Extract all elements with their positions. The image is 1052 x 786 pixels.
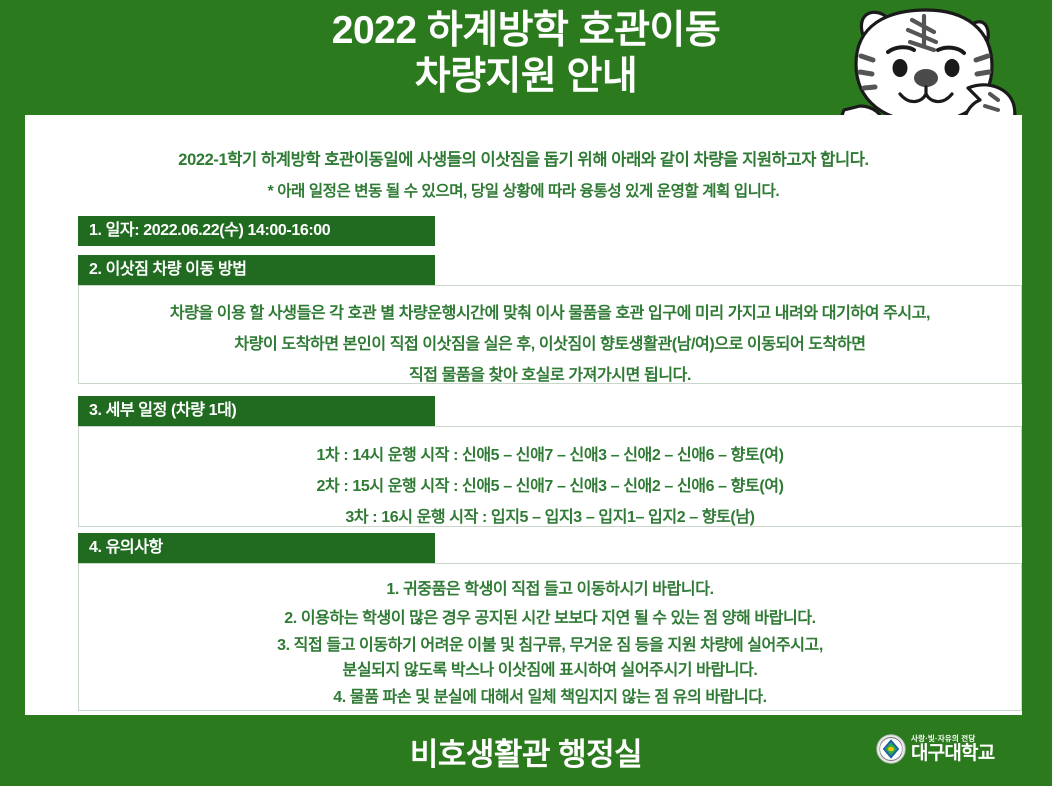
schedule-row-1: 1차 : 14시 운행 시작 : 신애5 – 신애7 – 신애3 – 신애2 –… — [79, 440, 1021, 471]
daegu-university-emblem-icon — [876, 734, 906, 764]
section-body-notice: 1. 귀중품은 학생이 직접 들고 이동하시기 바랍니다. 2. 이용하는 학생… — [78, 563, 1022, 711]
intro-line-1: 2022-1학기 하계방학 호관이동일에 사생들의 이삿짐을 돕기 위해 아래와… — [25, 145, 1022, 176]
brand-name: 대구대학교 — [911, 744, 994, 763]
intro-line-2: * 아래 일정은 변동 될 수 있으며, 당일 상황에 따라 융통성 있게 운영… — [25, 176, 1022, 207]
page-title-line-2: 차량지원 안내 — [0, 54, 1052, 100]
notice-item-3-cont: 분실되지 않도록 박스나 이삿짐에 표시하여 실어주시기 바랍니다. — [79, 658, 1021, 683]
section-body-schedule: 1차 : 14시 운행 시작 : 신애5 – 신애7 – 신애3 – 신애2 –… — [78, 426, 1022, 527]
intro-text: 2022-1학기 하계방학 호관이동일에 사생들의 이삿짐을 돕기 위해 아래와… — [25, 145, 1022, 207]
method-line-3: 직접 물품을 찾아 호실로 가져가시면 됩니다. — [79, 360, 1021, 391]
header-banner: 2022 하계방학 호관이동 차량지원 안내 — [0, 0, 1052, 118]
brand-tagline: 사랑·빛·자유의 전당 — [911, 735, 994, 743]
section-body-method: 차량을 이용 할 사생들은 각 호관 별 차량운행시간에 맞춰 이사 물품을 호… — [78, 285, 1022, 384]
section-heading-notice: 4. 유의사항 — [78, 533, 435, 563]
page-title-line-1: 2022 하계방학 호관이동 — [0, 8, 1052, 54]
section-heading-method: 2. 이삿짐 차량 이동 방법 — [78, 255, 435, 285]
method-line-2: 차량이 도착하면 본인이 직접 이삿짐을 실은 후, 이삿짐이 향토생활관(남/… — [79, 329, 1021, 360]
page-title: 2022 하계방학 호관이동 차량지원 안내 — [0, 8, 1052, 100]
notice-item-3: 3. 직접 들고 이동하기 어려운 이불 및 침구류, 무거운 짐 등을 지원 … — [79, 633, 1021, 658]
notice-item-1: 1. 귀중품은 학생이 직접 들고 이동하시기 바랍니다. — [79, 575, 1021, 604]
section-heading-schedule: 3. 세부 일정 (차량 1대) — [78, 396, 435, 426]
notice-panel: 2022-1학기 하계방학 호관이동일에 사생들의 이삿짐을 돕기 위해 아래와… — [25, 115, 1022, 715]
notice-item-2: 2. 이용하는 학생이 많은 경우 공지된 시간 보보다 지연 될 수 있는 점… — [79, 604, 1021, 633]
notice-item-4: 4. 물품 파손 및 분실에 대해서 일체 책임지지 않는 점 유의 바랍니다. — [79, 683, 1021, 712]
university-brand: 사랑·빛·자유의 전당 대구대학교 — [876, 734, 994, 764]
schedule-row-3: 3차 : 16시 운행 시작 : 입지5 – 입지3 – 입지1– 입지2 – … — [79, 502, 1021, 533]
schedule-row-2: 2차 : 15시 운행 시작 : 신애5 – 신애7 – 신애3 – 신애2 –… — [79, 471, 1021, 502]
footer-banner: 비호생활관 행정실 사랑·빛·자유의 전당 대구대학교 — [0, 715, 1052, 786]
method-line-1: 차량을 이용 할 사생들은 각 호관 별 차량운행시간에 맞춰 이사 물품을 호… — [79, 298, 1021, 329]
section-heading-date: 1. 일자: 2022.06.22(수) 14:00-16:00 — [78, 216, 435, 246]
